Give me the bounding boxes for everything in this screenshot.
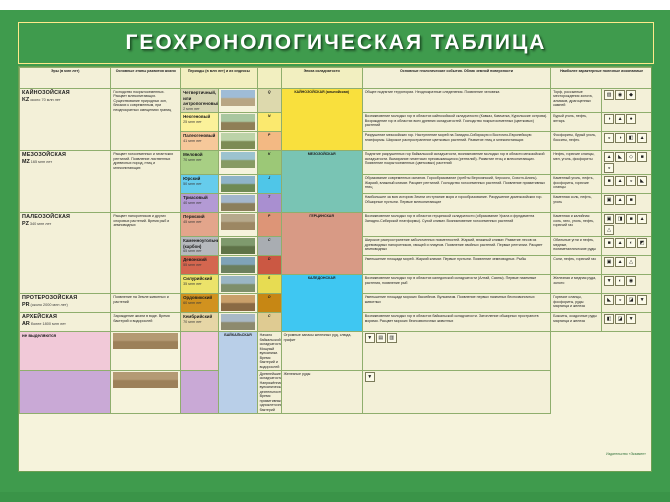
- table-head: Эры (в млн лет) Основные этапы развития …: [20, 68, 653, 89]
- period-name: Силурийский: [183, 276, 216, 282]
- era-name: АРХЕЙСКАЯ: [22, 314, 108, 321]
- mineral-icon-group: ◑▲●: [604, 114, 650, 124]
- period-age: 70 млн лет: [183, 158, 216, 163]
- minerals-cell: Нефть, горючие сланцы, мел, уголь, фосфо…: [551, 151, 602, 175]
- folding-epoch-cell: ГЕРЦИНСКАЯ: [281, 213, 362, 275]
- mineral-icons-cell: ■▲◒◣: [602, 175, 652, 194]
- era-cell: МЕЗОЗОЙСКАЯMZ 165 млн лет: [20, 151, 111, 213]
- mineral-icons-cell: ▧◉◆: [602, 89, 652, 113]
- carboniferous-swamp-scene: [221, 238, 254, 254]
- period-name: Палеогеновый: [183, 133, 216, 139]
- mineral-icon-group: ▼◐◉: [604, 276, 650, 286]
- geological-events-cell: Древнейшие складчатости. Напряжённая вул…: [257, 371, 281, 414]
- era-name: ПРОТЕРОЗОЙСКАЯ: [22, 295, 108, 302]
- silurian-sea-scene: [221, 276, 254, 292]
- era-index: PZ: [22, 221, 29, 228]
- mineral-icons-cell: ▣◨■▲△: [602, 213, 652, 237]
- oil-icon: ▲: [615, 238, 625, 248]
- period-index-cell: C: [257, 237, 281, 256]
- header-minerals: Наиболее характерные полезные ископаемые: [551, 68, 652, 89]
- diamond-icon: ◆: [626, 90, 636, 100]
- phosphorite-icon: ◒: [604, 163, 614, 173]
- period-illustration-cell: [111, 371, 181, 414]
- oil-icon: ▲: [615, 114, 625, 124]
- bauxite-icon: ◧: [604, 314, 614, 324]
- period-index-cell: [181, 371, 219, 414]
- period-index-cell: P: [257, 213, 281, 237]
- period-illustration-cell: [219, 213, 257, 237]
- minerals-cell: Каменная и калийная соль, гипс, уголь, н…: [551, 213, 602, 237]
- period-age: 70 млн лет: [183, 320, 216, 325]
- coal-icon: ■: [604, 238, 614, 248]
- period-cell: не выделяются: [20, 332, 111, 371]
- minerals-cell: Торф, россыпные месторождения золота, ал…: [551, 89, 602, 113]
- era-cell: АРХЕЙСКАЯAR более 1800 млн лет: [20, 313, 111, 332]
- mineral-icons-cell: ▣▲■: [602, 194, 652, 213]
- jurassic-dinosaur-scene: [221, 176, 254, 192]
- mineral-icon-group: ◧◪▼: [604, 314, 650, 324]
- mineral-icon-group: ▧◉◆: [604, 90, 650, 100]
- minerals-cell: Каменный уголь, нефть, фосфориты, горючи…: [551, 175, 602, 194]
- period-illustration-cell: [219, 89, 257, 113]
- page-title: ГЕОХРОНОЛОГИЧЕСКАЯ ТАБЛИЦА: [126, 31, 547, 55]
- era-name: ПАЛЕОЗОЙСКАЯ: [22, 214, 108, 221]
- geo-table: Эры (в млн лет) Основные этапы развития …: [19, 67, 652, 414]
- period-index-cell: S: [257, 275, 281, 294]
- shale-icon: ◣: [615, 152, 625, 162]
- period-index-cell: K: [257, 151, 281, 175]
- period-illustration-cell: [219, 294, 257, 313]
- copper-icon: ◐: [615, 276, 625, 286]
- amber-icon: ●: [626, 114, 636, 124]
- geological-events-cell: Образование современных океанов. Горообр…: [362, 175, 551, 194]
- header-life-stages: Основные этапы развития жизни: [111, 68, 181, 89]
- quaternary-mammoth-scene: [221, 90, 254, 106]
- era-name: МЕЗОЗОЙСКАЯ: [22, 152, 108, 159]
- mica-icon: ▤: [376, 333, 386, 343]
- period-age: 35 млн лет: [183, 282, 216, 287]
- publisher-credit: Издательство «Экзамен»: [606, 452, 646, 456]
- cretaceous-dinosaur-scene: [221, 152, 254, 168]
- header-geological-events: Основные геологические события. Облик зе…: [362, 68, 551, 89]
- period-illustration-cell: [219, 256, 257, 275]
- mineral-icon-group: ■▲◒◣: [604, 176, 650, 186]
- folding-epoch-cell: КАЙНОЗОЙСКАЯ (альпийская): [281, 89, 362, 151]
- gas-icon: △: [626, 257, 636, 267]
- period-index-cell: T: [257, 194, 281, 213]
- folding-epoch-cell: МЕЗОЗОЙСКАЯ: [281, 151, 362, 213]
- era-index: PR: [22, 302, 30, 309]
- phosphorite-icon: ◒: [604, 133, 614, 143]
- neogene-mammals-scene: [221, 114, 254, 130]
- period-name: не выделяются: [22, 333, 108, 339]
- oil-icon: ▲: [615, 176, 625, 186]
- mineral-icon-group: ▣▲■: [604, 195, 650, 205]
- manganese-icon: ◪: [626, 295, 636, 305]
- period-illustration-cell: [219, 113, 257, 132]
- minerals-cell: Железные руды: [281, 371, 362, 414]
- minerals-cell: Горючие сланцы, фосфориты, руды марганца…: [551, 294, 602, 313]
- cambrian-seabed-scene: [221, 314, 254, 330]
- era-age: 165 млн лет: [31, 160, 52, 165]
- period-age: 50 млн лет: [183, 182, 216, 187]
- geological-events-cell: Начало байкальской складчатости. Мощный …: [257, 332, 281, 371]
- mineral-icons-cell: ◒◑◧▲: [602, 132, 652, 151]
- poster-title-band: ГЕОХРОНОЛОГИЧЕСКАЯ ТАБЛИЦА: [18, 22, 654, 64]
- era-name: КАЙНОЗОЙСКАЯ: [22, 90, 108, 97]
- era-cell: ПАЛЕОЗОЙСКАЯPZ 340 млн лет: [20, 213, 111, 294]
- iron-icon: ▼: [604, 276, 614, 286]
- permian-landscape-scene: [221, 214, 254, 230]
- mineral-icon-group: ▼: [365, 372, 549, 382]
- era-age: около 70 млн лет: [30, 98, 60, 103]
- proterozoic-scene: [113, 333, 178, 349]
- life-stage-cell: Расцвет папоротников и других споровых р…: [111, 213, 181, 294]
- coal-icon: ■: [637, 152, 647, 162]
- ordovician-volcano-scene: [221, 295, 254, 311]
- table-row: Древнейшие складчатости. Напряжённая вул…: [20, 371, 653, 414]
- devonian-fish-scene: [221, 257, 254, 273]
- mineral-icons-cell: ■▲◐◩: [602, 237, 652, 256]
- header-folding-epoch: Эпоха складчатости: [281, 68, 362, 89]
- minerals-cell: Огромные запасы железных руд, слюда, гра…: [281, 332, 362, 371]
- geological-events-cell: Общее поднятие территории. Неоднократные…: [362, 89, 551, 113]
- iron-icon: ▼: [365, 333, 375, 343]
- geological-events-cell: Наибольшее за всю историю Земли отступан…: [362, 194, 551, 213]
- period-age: 2 млн лет: [183, 107, 216, 112]
- period-illustration-cell: [219, 175, 257, 194]
- shale-icon: ◣: [604, 295, 614, 305]
- oil-icon: ▲: [637, 133, 647, 143]
- period-cell: Неогеновый25 млн лет: [181, 113, 219, 132]
- oil-icon: ▲: [615, 257, 625, 267]
- period-cell: Силурийский35 млн лет: [181, 275, 219, 294]
- era-age: 340 млн лет: [30, 222, 51, 227]
- minerals-cell: Бокситы, осадочные руды марганца и желез…: [551, 313, 602, 332]
- period-age: 45 млн лет: [183, 220, 216, 225]
- period-index-cell: O: [257, 294, 281, 313]
- iron-icon: ▼: [365, 372, 375, 382]
- mineral-icon-group: ▲◣◇■◒: [604, 152, 650, 173]
- era-cell: ПРОТЕРОЗОЙСКАЯPR (около 2000 млн лет): [20, 294, 111, 313]
- geological-events-cell: Уменьшение площади морей. Жаркий климат.…: [362, 256, 551, 275]
- mineral-icons-cell: ▲◣◇■◒: [602, 151, 652, 175]
- period-cell: Пермский45 млн лет: [181, 213, 219, 237]
- coal-icon: ■: [626, 214, 636, 224]
- period-name: Кембрийский: [183, 314, 216, 320]
- period-age: 40 млн лет: [183, 201, 216, 206]
- graphite-icon: ▥: [387, 333, 397, 343]
- header-eras: Эры (в млн лет): [20, 68, 111, 89]
- period-index-cell: D: [257, 256, 281, 275]
- gypsum-icon: ◨: [615, 214, 625, 224]
- shale-icon: ◣: [637, 176, 647, 186]
- header-row: Эры (в млн лет) Основные этапы развития …: [20, 68, 653, 89]
- footer-strip: [18, 472, 652, 484]
- era-index: MZ: [22, 159, 30, 166]
- mineral-icons-cell: ▼◐◉: [602, 275, 652, 294]
- table-row: не выделяютсяБАЙКАЛЬСКАЯНачало байкальск…: [20, 332, 653, 371]
- geological-events-cell: Возникновение молодых гор в областях кай…: [362, 113, 551, 132]
- geological-events-cell: Возникновение молодых гор в областях кал…: [362, 275, 551, 294]
- mineral-icons-cell: ◑▲●: [602, 113, 652, 132]
- geological-events-cell: Разрушение мезозойских гор. Наступление …: [362, 132, 551, 151]
- period-illustration-cell: [219, 237, 257, 256]
- period-cell: Ордовикский60 млн лет: [181, 294, 219, 313]
- bauxite-icon: ◧: [626, 133, 636, 143]
- era-age: (около 2000 млн лет): [31, 303, 68, 308]
- period-age: 25 млн лет: [183, 120, 216, 125]
- period-cell: Палеогеновый41 млн лет: [181, 132, 219, 151]
- life-stage-cell: Расцвет голосеменных и гигантских рептил…: [111, 151, 181, 213]
- period-cell: Меловой70 млн лет: [181, 151, 219, 175]
- minerals-cell: Железная и медная руда, золото: [551, 275, 602, 294]
- period-name: Каменноугольный (карбон): [183, 238, 216, 249]
- folding-epoch-cell: КАЛЕДОНСКАЯ: [281, 275, 362, 332]
- salt-icon: ▣: [604, 257, 614, 267]
- coal-icon: ■: [626, 195, 636, 205]
- mineral-icons-cell: ▣▲△: [602, 256, 652, 275]
- geological-events-cell: Возникновение молодых гор в областях гер…: [362, 213, 551, 237]
- period-index-cell: [181, 332, 219, 371]
- period-age: 55 млн лет: [183, 263, 216, 268]
- minerals-cell: Каменная соль, нефть, уголь: [551, 194, 602, 213]
- period-age: 65 млн лет: [183, 249, 216, 254]
- iron-icon: ▼: [626, 314, 636, 324]
- minerals-cell: Обильные угли и нефть, медные, полиметал…: [551, 237, 602, 256]
- chalk-icon: ◇: [626, 152, 636, 162]
- geological-events-cell: Широкое распространение заболоченных низ…: [362, 237, 551, 256]
- minerals-cell: Бурый уголь, нефть, янтарь: [551, 113, 602, 132]
- mineral-icon-group: ■▲◐◩: [604, 238, 650, 248]
- triassic-reptile-scene: [221, 195, 254, 211]
- period-illustration-cell: [219, 151, 257, 175]
- period-cell: [20, 371, 111, 414]
- geochronological-table: Эры (в млн лет) Основные этапы развития …: [18, 66, 652, 472]
- oil-icon: ▲: [604, 152, 614, 162]
- header-periods: Периоды (в млн лет) и их индексы: [181, 68, 258, 89]
- iron-icon: ▼: [637, 295, 647, 305]
- period-cell: Четвертичный, или антропогеновый2 млн ле…: [181, 89, 219, 113]
- mineral-icons-cell: ▼: [362, 371, 551, 414]
- table-row: МЕЗОЗОЙСКАЯMZ 165 млн летРасцвет голосем…: [20, 151, 653, 175]
- period-illustration-cell: [219, 132, 257, 151]
- period-illustration-cell: [219, 275, 257, 294]
- manganese-icon: ◪: [615, 314, 625, 324]
- table-row: КАЙНОЗОЙСКАЯKZ около 70 млн летГосподств…: [20, 89, 653, 113]
- gas-icon: △: [604, 225, 614, 235]
- period-index-cell: N: [257, 113, 281, 132]
- table-body: КАЙНОЗОЙСКАЯKZ около 70 млн летГосподств…: [20, 89, 653, 414]
- period-age: 41 млн лет: [183, 139, 216, 144]
- phosphorite-icon: ◒: [626, 176, 636, 186]
- period-illustration-cell: [219, 313, 257, 332]
- mineral-icon-group: ▣◨■▲△: [604, 214, 650, 235]
- geological-events-cell: Возникновение молодых гор в областях бай…: [362, 313, 551, 332]
- coal-icon: ■: [604, 176, 614, 186]
- gold-icon: ◉: [626, 276, 636, 286]
- life-stage-cell: Зарождение жизни в воде. Время бактерий …: [111, 313, 181, 332]
- mineral-icon-group: ◒◑◧▲: [604, 133, 650, 143]
- mineral-icons-cell: ◧◪▼: [602, 313, 652, 332]
- minerals-cell: Соли, нефть, горючий газ: [551, 256, 602, 275]
- period-cell: Каменноугольный (карбон)65 млн лет: [181, 237, 219, 256]
- period-cell: Триасовый40 млн лет: [181, 194, 219, 213]
- paleogene-forest-scene: [221, 133, 254, 149]
- gold-icon: ◉: [615, 90, 625, 100]
- oil-icon: ▲: [637, 214, 647, 224]
- period-cell: Кембрийский70 млн лет: [181, 313, 219, 332]
- life-stage-cell: Господство покрытосеменных. Расцвет млек…: [111, 89, 181, 151]
- brown-coal-icon: ◑: [615, 133, 625, 143]
- era-index: KZ: [22, 97, 29, 104]
- phosphorite-icon: ◒: [615, 295, 625, 305]
- table-row: ПАЛЕОЗОЙСКАЯPZ 340 млн летРасцвет папоро…: [20, 213, 653, 237]
- period-name: Четвертичный, или антропогеновый: [183, 90, 216, 107]
- minerals-cell: Фосфориты, бурый уголь, бокситы, нефть: [551, 132, 602, 151]
- era-age: более 1800 млн лет: [31, 322, 66, 327]
- peat-icon: ▧: [604, 90, 614, 100]
- mineral-icons-cell: ▼▤▥: [362, 332, 551, 371]
- copper-icon: ◐: [626, 238, 636, 248]
- salt-icon: ▣: [604, 195, 614, 205]
- oil-icon: ▲: [615, 195, 625, 205]
- period-name: Ордовикский: [183, 295, 216, 301]
- period-illustration-cell: [219, 194, 257, 213]
- period-cell: Девонский55 млн лет: [181, 256, 219, 275]
- geological-events-cell: Поднятие разрушенных гор байкальской скл…: [362, 151, 551, 175]
- period-cell: Юрский50 млн лет: [181, 175, 219, 194]
- poster-root: ГЕОХРОНОЛОГИЧЕСКАЯ ТАБЛИЦА Эры (в млн ле…: [0, 0, 670, 502]
- mineral-icon-group: ▼▤▥: [365, 333, 549, 343]
- era-index: AR: [22, 321, 30, 328]
- life-stage-cell: Появление на Земле животных и растений: [111, 294, 181, 313]
- salt-icon: ▣: [604, 214, 614, 224]
- period-index-cell: J: [257, 175, 281, 194]
- mineral-icons-cell: ◣◒◪▼: [602, 294, 652, 313]
- period-index-cell: P: [257, 132, 281, 151]
- period-illustration-cell: [111, 332, 181, 371]
- folding-epoch-cell: БАЙКАЛЬСКАЯ: [219, 332, 257, 414]
- proterozoic-scene: [113, 372, 178, 388]
- mineral-icon-group: ▣▲△: [604, 257, 650, 267]
- era-cell: КАЙНОЗОЙСКАЯKZ около 70 млн лет: [20, 89, 111, 151]
- period-age: 60 млн лет: [183, 301, 216, 306]
- period-index-cell: Q: [257, 89, 281, 113]
- mineral-icon-group: ◣◒◪▼: [604, 295, 650, 305]
- period-index-cell: C: [257, 313, 281, 332]
- brown-coal-icon: ◑: [604, 114, 614, 124]
- polymetal-icon: ◩: [637, 238, 647, 248]
- header-period-index: [257, 68, 281, 89]
- geological-events-cell: Уменьшение площади морских бассейнов. Ву…: [362, 294, 551, 313]
